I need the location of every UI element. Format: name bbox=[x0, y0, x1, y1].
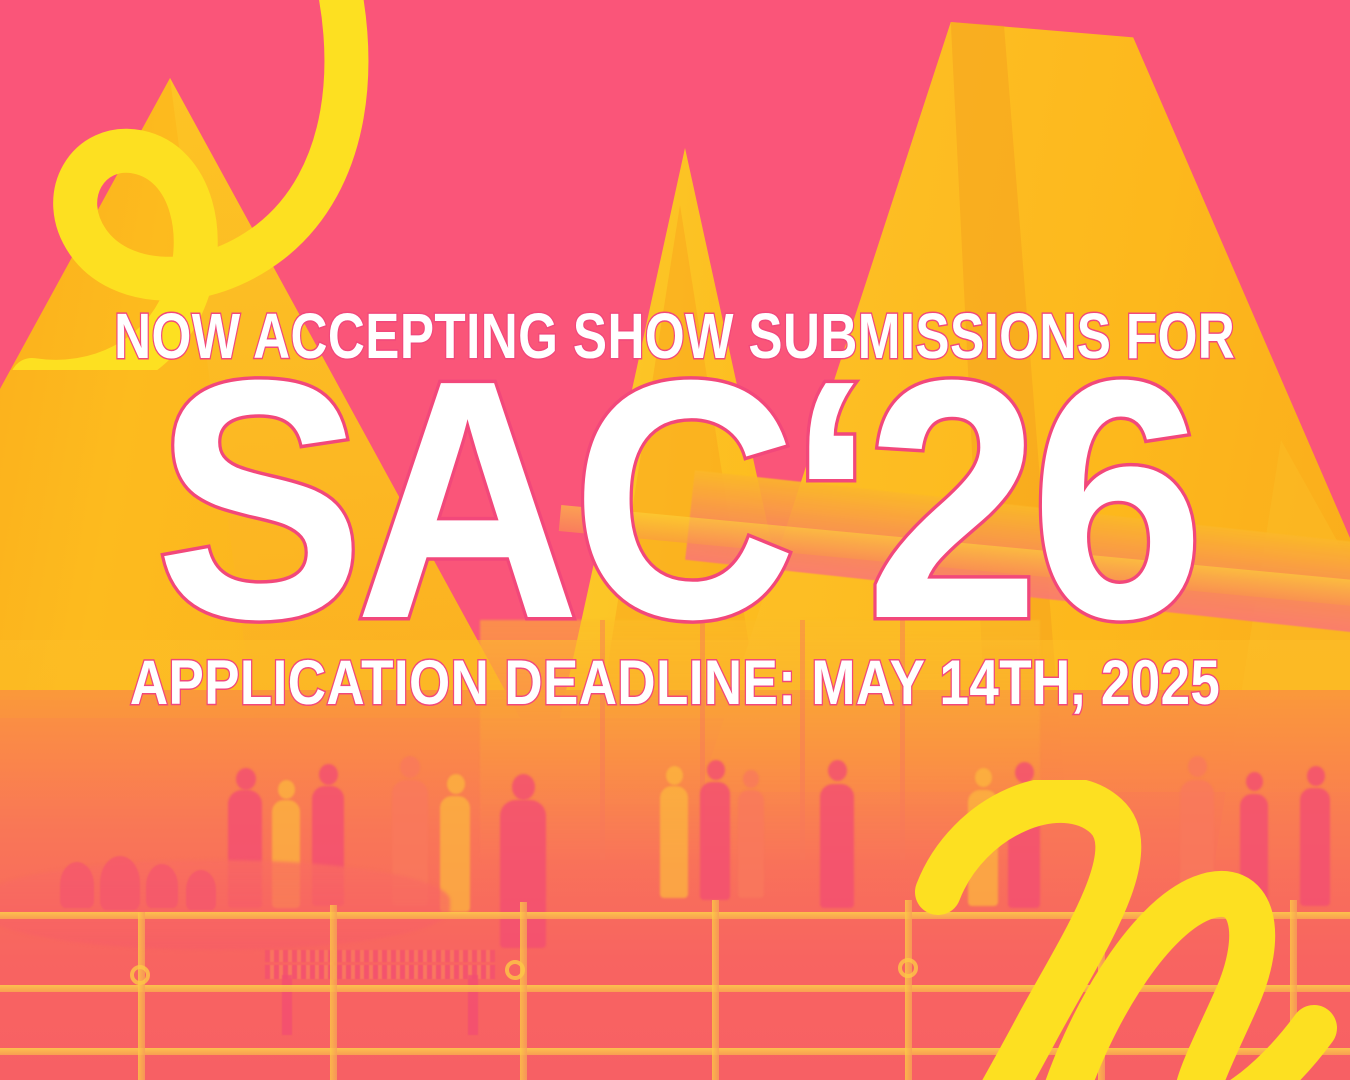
application-deadline-text: APPLICATION DEADLINE: MAY 14TH, 2025 bbox=[130, 652, 1220, 715]
poster-copy: NOW ACCEPTING SHOW SUBMISSIONS FOR SAC‘2… bbox=[0, 0, 1350, 1080]
sac-26-wordmark: SAC‘26 bbox=[155, 364, 1195, 636]
promo-banner: NOW ACCEPTING SHOW SUBMISSIONS FOR SAC‘2… bbox=[0, 0, 1350, 1080]
